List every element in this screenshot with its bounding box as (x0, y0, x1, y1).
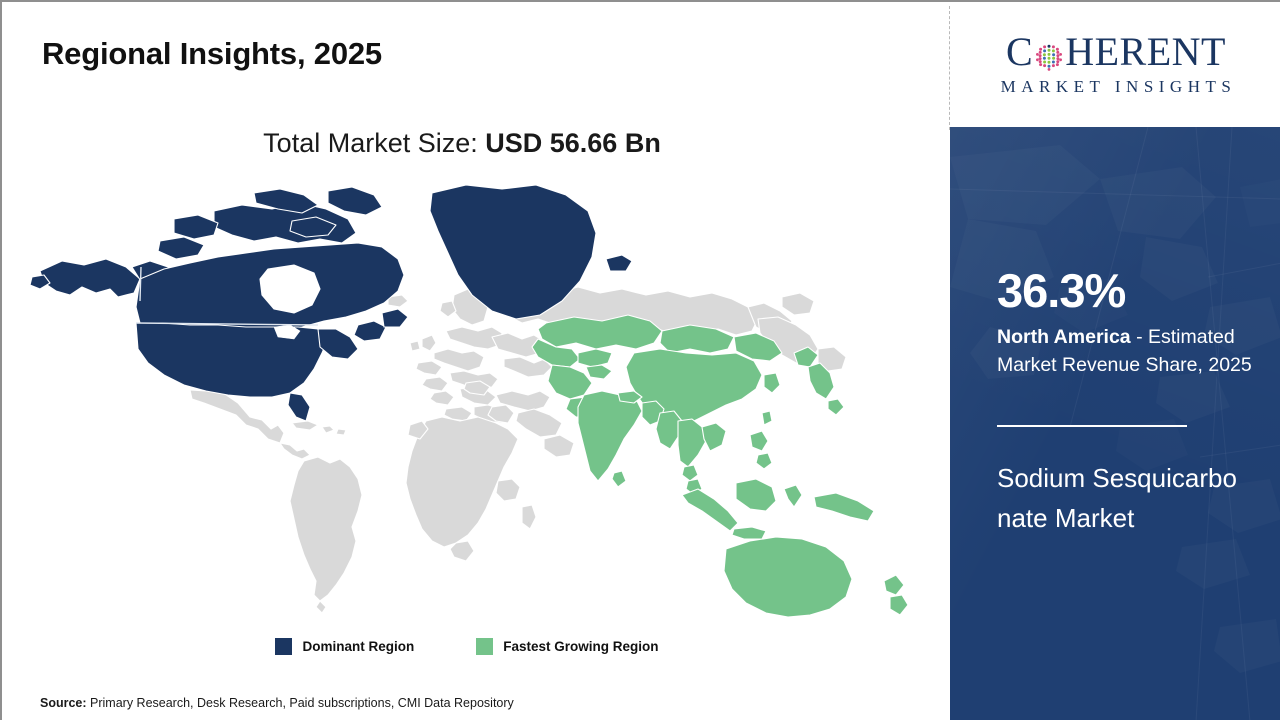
legend-item-fastest-growing: Fastest Growing Region (476, 638, 658, 655)
panel-divider-rule (997, 425, 1187, 427)
market-size-value: USD 56.66 Bn (485, 128, 661, 158)
legend-swatch-dominant (275, 638, 292, 655)
logo-subtitle: MARKET INSIGHTS (996, 77, 1237, 97)
map-region-north-america (30, 185, 632, 421)
dotted-globe-icon (1034, 39, 1064, 69)
legend-label-dominant: Dominant Region (302, 639, 414, 654)
legend-swatch-fastest-growing (476, 638, 493, 655)
logo-letters-herent: HERENT (1065, 32, 1226, 72)
page-title: Regional Insights, 2025 (42, 36, 382, 72)
source-label: Source: (40, 696, 87, 710)
total-market-size: Total Market Size: USD 56.66 Bn (2, 128, 922, 159)
stat-value: 36.3% (997, 267, 1125, 314)
map-panel: Regional Insights, 2025 Total Market Siz… (2, 2, 948, 720)
market-size-label: Total Market Size: (263, 128, 485, 158)
source-text: Primary Research, Desk Research, Paid su… (87, 696, 514, 710)
world-map (22, 177, 922, 617)
legend-item-dominant: Dominant Region (275, 638, 414, 655)
logo-letter-c: C (1006, 32, 1033, 72)
infographic-page: Regional Insights, 2025 Total Market Siz… (0, 0, 1280, 720)
market-name: Sodium Sesquicarbonate Market (997, 459, 1237, 538)
logo-wordmark: C (1006, 32, 1226, 72)
map-region-asia-pacific (532, 315, 908, 617)
stat-panel-content: 36.3% North America - Estimated Market R… (997, 127, 1265, 720)
stat-panel: 36.3% North America - Estimated Market R… (950, 127, 1280, 720)
stat-region-name: North America (997, 326, 1131, 348)
source-note: Source: Primary Research, Desk Research,… (40, 696, 514, 710)
map-legend: Dominant Region Fastest Growing Region (2, 638, 932, 655)
legend-label-fastest-growing: Fastest Growing Region (503, 639, 658, 654)
stat-description: North America - Estimated Market Revenue… (997, 323, 1262, 380)
brand-logo: C (950, 2, 1280, 127)
